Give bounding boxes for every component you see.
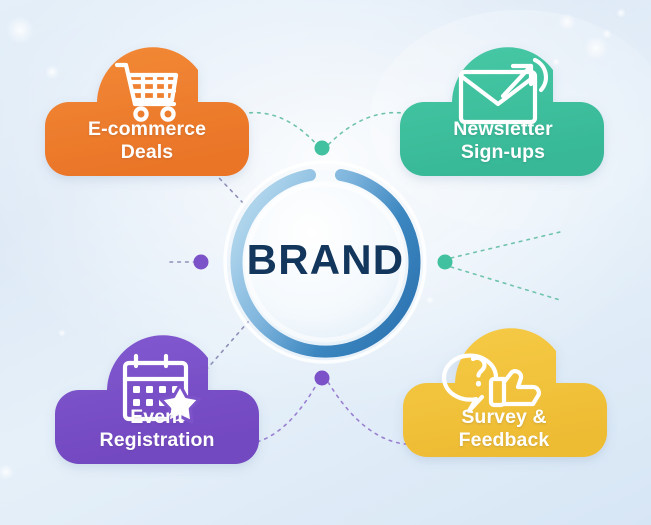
background-decoration bbox=[0, 0, 651, 525]
connector-dot-left bbox=[194, 255, 209, 270]
envelope-arrow-icon bbox=[461, 60, 546, 122]
link-event-to-center bbox=[205, 382, 318, 444]
link-event-to-hub bbox=[206, 322, 248, 370]
link-newsletter-to-center bbox=[327, 113, 444, 146]
hub-disc bbox=[233, 170, 417, 354]
link-right-dot-up bbox=[451, 232, 560, 258]
question-thumbsup-icon bbox=[444, 356, 539, 411]
link-ecommerce-to-hub bbox=[198, 156, 246, 206]
node-ecommerce[interactable] bbox=[45, 47, 249, 176]
calendar-star-icon bbox=[125, 356, 199, 422]
connector-dot-bottom bbox=[315, 371, 330, 386]
node-event[interactable] bbox=[55, 335, 259, 464]
brand-hub[interactable] bbox=[225, 162, 425, 362]
hub-inner-highlight bbox=[247, 184, 403, 340]
connector-dot-group bbox=[194, 141, 453, 386]
cloud-shape-event bbox=[55, 335, 259, 464]
link-ecommerce-to-center bbox=[206, 113, 318, 146]
cloud-shape-survey bbox=[403, 328, 607, 457]
node-newsletter[interactable] bbox=[400, 47, 604, 176]
connector-dot-right bbox=[438, 255, 453, 270]
link-survey-to-center bbox=[328, 382, 452, 444]
link-right-dot-down bbox=[451, 267, 560, 300]
connector-links bbox=[0, 0, 651, 525]
connector-dot-top bbox=[315, 141, 330, 156]
star-badge bbox=[161, 385, 200, 422]
brand-center-label: BRAND bbox=[0, 236, 651, 284]
infographic-canvas: E-commerce Deals Newsletter Sign-ups Eve… bbox=[0, 0, 651, 525]
node-label-survey: Survey & Feedback bbox=[404, 406, 604, 451]
hub-progress-ring bbox=[236, 175, 414, 352]
node-label-event: Event Registration bbox=[52, 406, 262, 451]
cloud-shape-newsletter bbox=[400, 47, 604, 176]
node-label-ecommerce: E-commerce Deals bbox=[42, 118, 252, 163]
nodes-and-hub bbox=[0, 0, 651, 525]
node-survey[interactable] bbox=[403, 328, 607, 457]
hub-outer-halo bbox=[225, 162, 425, 362]
node-label-newsletter: Newsletter Sign-ups bbox=[398, 118, 608, 163]
cloud-shape-ecommerce bbox=[45, 47, 249, 176]
shopping-cart-icon bbox=[117, 65, 176, 120]
